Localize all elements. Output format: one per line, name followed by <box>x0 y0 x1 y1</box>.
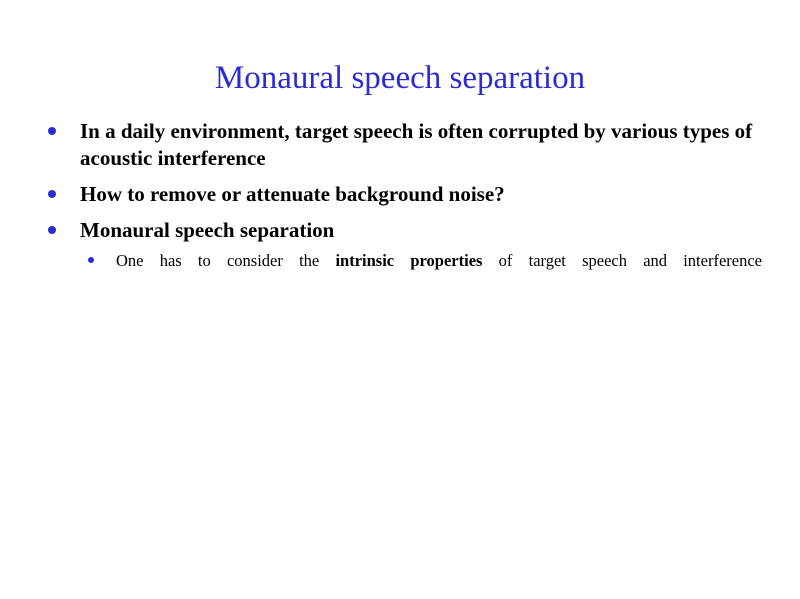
bullet-dot-icon <box>48 190 56 198</box>
bullet-dot-icon <box>48 226 56 234</box>
sub-bullet-text-before: One has to consider the <box>116 251 335 270</box>
sub-list-item: One has to consider the intrinsic proper… <box>80 249 774 295</box>
bullet-text: In a daily environment, target speech is… <box>80 118 770 172</box>
bullet-text: Monaural speech separation <box>80 217 770 244</box>
bullet-text: How to remove or attenuate background no… <box>80 181 770 208</box>
list-item: In a daily environment, target speech is… <box>44 118 774 172</box>
bullet-list-level-2: One has to consider the intrinsic proper… <box>80 249 774 295</box>
sub-bullet-text-after: of target speech and interference <box>482 251 762 270</box>
sub-bullet-dot-icon <box>88 257 94 263</box>
list-item: How to remove or attenuate background no… <box>44 181 774 208</box>
list-item: Monaural speech separation One has to co… <box>44 217 774 295</box>
slide-title: Monaural speech separation <box>0 58 800 98</box>
sub-bullet-text: One has to consider the intrinsic proper… <box>116 249 762 295</box>
presentation-slide: Monaural speech separation In a daily en… <box>0 0 800 599</box>
bullet-dot-icon <box>48 127 56 135</box>
slide-body: In a daily environment, target speech is… <box>44 118 774 304</box>
sub-bullet-text-emphasis: intrinsic properties <box>335 251 482 270</box>
bullet-list-level-1: In a daily environment, target speech is… <box>44 118 774 295</box>
